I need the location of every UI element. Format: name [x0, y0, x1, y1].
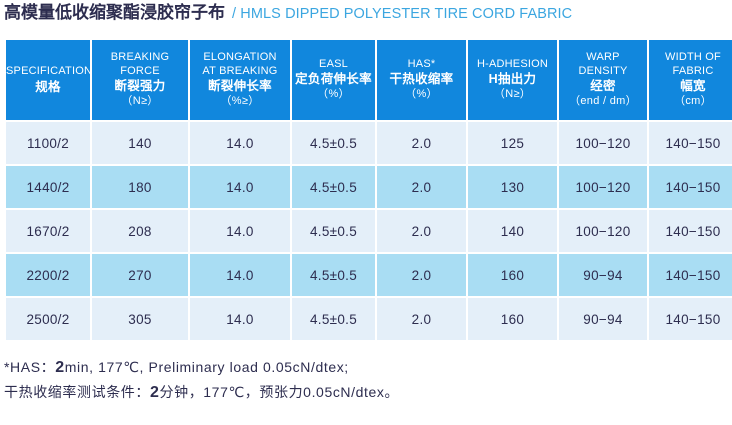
footnote-en-suffix: min, 177℃, Preliminary load 0.05cN/dtex; [65, 359, 349, 375]
column-header-has: HAS* 干热收缩率 （%） [377, 40, 466, 120]
cell-breaking-force: 208 [92, 210, 188, 252]
cell-easl: 4.5±0.5 [292, 166, 375, 208]
cell-has: 2.0 [377, 254, 466, 296]
cell-elongation: 14.0 [190, 254, 290, 296]
cell-breaking-force: 180 [92, 166, 188, 208]
table-row: 2500/2 305 14.0 4.5±0.5 2.0 160 90−94 14… [6, 298, 732, 340]
footnote-cn-prefix: 干热收缩率测试条件： [4, 384, 150, 400]
cell-h-adhesion: 160 [468, 298, 557, 340]
footnote-en-prefix: *HAS： [4, 359, 55, 375]
cell-elongation: 14.0 [190, 166, 290, 208]
cell-elongation: 14.0 [190, 122, 290, 164]
header-unit: （cm） [649, 94, 732, 109]
specification-table: SPECIFICATION 规格 BREAKING FORCE 断裂强力 （N≥… [4, 38, 732, 342]
cell-specification: 2200/2 [6, 254, 90, 296]
cell-h-adhesion: 140 [468, 210, 557, 252]
header-en-line1: H-ADHESION [468, 58, 557, 72]
header-unit: （N≥） [92, 94, 188, 109]
column-header-specification: SPECIFICATION 规格 [6, 40, 90, 120]
cell-width: 140−150 [649, 254, 732, 296]
header-en-line1: HAS* [377, 58, 466, 72]
header-cn: 干热收缩率 [377, 71, 466, 87]
cell-width: 140−150 [649, 298, 732, 340]
cell-easl: 4.5±0.5 [292, 298, 375, 340]
page-title-en: / HMLS DIPPED POLYESTER TIRE CORD FABRIC [232, 3, 572, 25]
footnote-en-value: 2 [55, 359, 65, 376]
table-body: 1100/2 140 14.0 4.5±0.5 2.0 125 100−120 … [6, 122, 732, 340]
cell-width: 140−150 [649, 210, 732, 252]
header-cn: 断裂伸长率 [190, 78, 290, 94]
footnotes: *HAS：2min, 177℃, Preliminary load 0.05cN… [4, 355, 728, 405]
header-en: SPECIFICATION [6, 65, 90, 79]
cell-width: 140−150 [649, 122, 732, 164]
table-header: SPECIFICATION 规格 BREAKING FORCE 断裂强力 （N≥… [6, 40, 732, 120]
column-header-h-adhesion: H-ADHESION H抽出力 （N≥） [468, 40, 557, 120]
cell-width: 140−150 [649, 166, 732, 208]
cell-warp-density: 100−120 [559, 166, 647, 208]
header-unit: （end / dm） [559, 94, 647, 109]
header-en-line2: AT BREAKING [190, 65, 290, 79]
header-cn: 幅宽 [649, 78, 732, 94]
cell-specification: 2500/2 [6, 298, 90, 340]
header-cn: 经密 [559, 78, 647, 94]
column-header-width-of-fabric: WIDTH OF FABRIC 幅宽 （cm） [649, 40, 732, 120]
header-en-line1: EASL [292, 58, 375, 72]
cell-h-adhesion: 130 [468, 166, 557, 208]
header-cn: 定负荷伸长率 [292, 71, 375, 87]
cell-warp-density: 100−120 [559, 210, 647, 252]
footnote-line-cn: 干热收缩率测试条件：2分钟，177℃，预张力0.05cN/dtex。 [4, 380, 728, 405]
cell-easl: 4.5±0.5 [292, 122, 375, 164]
footnote-line-en: *HAS：2min, 177℃, Preliminary load 0.05cN… [4, 355, 728, 380]
cell-warp-density: 90−94 [559, 298, 647, 340]
cell-elongation: 14.0 [190, 298, 290, 340]
cell-warp-density: 100−120 [559, 122, 647, 164]
header-en-line1: WIDTH OF [649, 51, 732, 65]
cell-specification: 1670/2 [6, 210, 90, 252]
footnote-cn-value: 2 [150, 384, 160, 401]
header-en-line2: FORCE [92, 65, 188, 79]
header-cn: 断裂强力 [92, 78, 188, 94]
header-en-line2: DENSITY [559, 65, 647, 79]
cell-has: 2.0 [377, 166, 466, 208]
cell-h-adhesion: 160 [468, 254, 557, 296]
cell-has: 2.0 [377, 298, 466, 340]
cell-breaking-force: 140 [92, 122, 188, 164]
header-en-line2: FABRIC [649, 65, 732, 79]
cell-h-adhesion: 125 [468, 122, 557, 164]
column-header-breaking-force: BREAKING FORCE 断裂强力 （N≥） [92, 40, 188, 120]
header-cn: 规格 [6, 79, 90, 95]
cell-specification: 1100/2 [6, 122, 90, 164]
cell-easl: 4.5±0.5 [292, 210, 375, 252]
header-en-line1: BREAKING [92, 51, 188, 65]
table-row: 1100/2 140 14.0 4.5±0.5 2.0 125 100−120 … [6, 122, 732, 164]
footnote-cn-suffix: 分钟，177℃，预张力0.05cN/dtex。 [160, 384, 400, 400]
table-row: 1670/2 208 14.0 4.5±0.5 2.0 140 100−120 … [6, 210, 732, 252]
cell-breaking-force: 305 [92, 298, 188, 340]
header-unit: （%≥） [190, 94, 290, 109]
header-unit: （%） [292, 87, 375, 102]
column-header-easl: EASL 定负荷伸长率 （%） [292, 40, 375, 120]
table-row: 1440/2 180 14.0 4.5±0.5 2.0 130 100−120 … [6, 166, 732, 208]
cell-has: 2.0 [377, 122, 466, 164]
cell-elongation: 14.0 [190, 210, 290, 252]
cell-warp-density: 90−94 [559, 254, 647, 296]
header-unit: （N≥） [468, 87, 557, 102]
table-header-row: SPECIFICATION 规格 BREAKING FORCE 断裂强力 （N≥… [6, 40, 732, 120]
column-header-warp-density: WARP DENSITY 经密 （end / dm） [559, 40, 647, 120]
header-unit: （%） [377, 87, 466, 102]
page-title: 高模量低收缩聚酯浸胶帘子布 / HMLS DIPPED POLYESTER TI… [4, 2, 572, 25]
cell-specification: 1440/2 [6, 166, 90, 208]
header-cn: H抽出力 [468, 71, 557, 87]
cell-has: 2.0 [377, 210, 466, 252]
cell-easl: 4.5±0.5 [292, 254, 375, 296]
column-header-elongation-at-breaking: ELONGATION AT BREAKING 断裂伸长率 （%≥） [190, 40, 290, 120]
table-row: 2200/2 270 14.0 4.5±0.5 2.0 160 90−94 14… [6, 254, 732, 296]
spec-table-container: SPECIFICATION 规格 BREAKING FORCE 断裂强力 （N≥… [4, 38, 728, 342]
page-title-cn: 高模量低收缩聚酯浸胶帘子布 [4, 2, 225, 24]
header-en-line1: WARP [559, 51, 647, 65]
cell-breaking-force: 270 [92, 254, 188, 296]
header-en-line1: ELONGATION [190, 51, 290, 65]
